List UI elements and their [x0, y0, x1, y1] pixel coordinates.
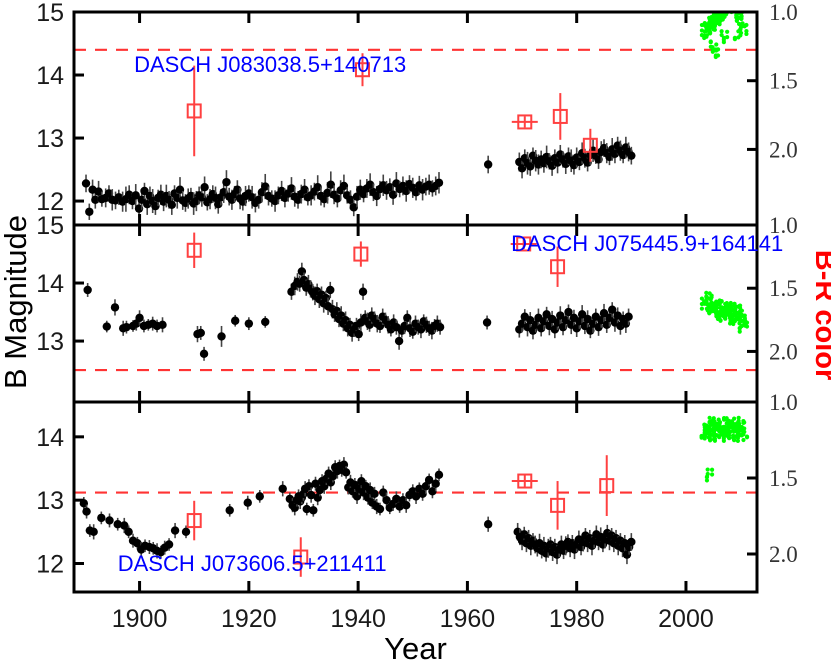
data-point-modern	[744, 23, 748, 27]
data-point-modern	[730, 5, 734, 9]
data-point-modern	[722, 429, 726, 433]
data-point-modern	[725, 30, 729, 34]
series-filled-circle	[80, 457, 636, 564]
data-point-modern	[727, 0, 731, 1]
data-point-modern	[717, 423, 721, 427]
data-point	[200, 183, 208, 191]
data-point	[222, 178, 230, 186]
data-point-modern	[730, 1, 734, 5]
data-point-modern	[730, 2, 734, 6]
y-tick-label-right: 1.5	[769, 466, 798, 491]
y-tick-label-right: 2.0	[769, 339, 798, 364]
data-point-modern	[727, 436, 731, 440]
data-point	[326, 286, 334, 294]
data-point-modern	[732, 4, 736, 8]
panel-1: 121314151.01.52.0DASCH J083038.5+140713	[36, 0, 798, 225]
data-point-modern	[712, 419, 716, 423]
series-filled-circle	[82, 137, 636, 220]
data-point-modern	[729, 315, 733, 319]
data-point-modern	[726, 3, 730, 7]
panel-data-area	[74, 0, 757, 220]
data-point	[89, 528, 97, 536]
y-tick-label: 14	[36, 270, 64, 298]
data-point-modern	[709, 40, 713, 44]
data-point	[171, 526, 179, 534]
data-point	[244, 499, 252, 507]
data-point-modern	[729, 6, 733, 10]
data-point-modern	[720, 5, 724, 9]
data-point-modern	[705, 478, 709, 482]
data-point	[226, 506, 234, 514]
data-point	[376, 505, 384, 513]
data-point	[217, 332, 225, 340]
data-point-modern	[727, 430, 731, 434]
data-point-modern	[720, 29, 724, 33]
data-point	[231, 317, 239, 325]
data-point	[359, 288, 367, 296]
data-point-modern	[726, 426, 730, 430]
data-point-modern	[735, 5, 739, 9]
series-small-dot	[699, 416, 749, 483]
y-tick-label-right: 2.0	[769, 137, 798, 162]
y-tick-label: 13	[36, 328, 64, 356]
data-point	[83, 286, 91, 294]
x-axis-title: Year	[384, 631, 447, 664]
data-point-modern	[735, 0, 739, 3]
data-point	[105, 516, 113, 524]
data-point	[484, 160, 492, 168]
x-tick-label: 1980	[549, 605, 605, 633]
data-point-modern	[734, 6, 738, 10]
data-point-modern	[704, 291, 708, 295]
data-point-modern	[727, 1, 731, 5]
data-point-modern	[706, 467, 710, 471]
data-point	[111, 303, 119, 311]
data-point	[256, 492, 264, 500]
data-point-modern	[717, 418, 721, 422]
y-tick-label: 12	[36, 551, 64, 579]
data-point-modern	[710, 468, 714, 472]
data-point-modern	[716, 53, 720, 57]
data-point-modern	[727, 0, 731, 2]
data-point-modern	[738, 27, 742, 31]
data-point	[103, 322, 111, 330]
data-point	[395, 337, 403, 345]
series-open-square	[188, 233, 564, 287]
y-tick-label: 14	[36, 62, 64, 90]
data-point	[484, 520, 492, 528]
panel-3: 1213141.01.52.0DASCH J073606.5+211411	[36, 390, 798, 592]
series-small-dot	[700, 291, 749, 334]
data-point-modern	[738, 313, 742, 317]
data-point-modern	[741, 432, 745, 436]
y-tick-label: 15	[36, 212, 64, 240]
data-point	[165, 540, 173, 548]
y-tick-label: 13	[36, 487, 64, 515]
data-point-modern	[745, 324, 749, 328]
data-point-modern	[720, 7, 724, 11]
y-tick-label: 13	[36, 125, 64, 153]
data-point	[627, 538, 635, 546]
data-point-modern	[743, 314, 747, 318]
data-point-modern	[722, 5, 726, 9]
data-point	[158, 321, 166, 329]
data-point	[342, 468, 350, 476]
y-tick-label: 15	[36, 0, 64, 27]
data-point-modern	[722, 436, 726, 440]
data-point-modern	[720, 17, 724, 21]
data-point-modern	[729, 2, 733, 6]
data-point-modern	[705, 475, 709, 479]
data-point-modern	[735, 0, 739, 3]
data-point-modern	[735, 6, 739, 10]
y-tick-label-right: 1.5	[769, 69, 798, 94]
data-point-modern	[730, 0, 734, 3]
data-point-modern	[715, 20, 719, 24]
data-point-modern	[725, 416, 729, 420]
data-point	[627, 151, 635, 159]
data-point-modern	[725, 0, 729, 3]
data-point-modern	[707, 311, 711, 315]
data-point-modern	[739, 324, 743, 328]
data-point-modern	[715, 306, 719, 310]
data-point-modern	[730, 0, 734, 4]
data-point-modern	[732, 0, 736, 4]
data-point	[402, 501, 410, 509]
data-point	[168, 201, 176, 209]
data-point-modern	[700, 307, 704, 311]
data-point-modern	[703, 436, 707, 440]
source-label: DASCH J073606.5+211411	[118, 551, 387, 576]
data-point-modern	[725, 5, 729, 9]
data-point-modern	[720, 299, 724, 303]
data-point-modern	[720, 2, 724, 6]
source-label: DASCH J075445.9+164141	[511, 231, 783, 256]
data-point-modern	[705, 301, 709, 305]
data-point	[309, 506, 317, 514]
data-point-modern	[725, 3, 729, 7]
data-point-modern	[725, 2, 729, 6]
data-point-modern	[732, 417, 736, 421]
data-point-modern	[722, 425, 726, 429]
data-point-modern	[705, 295, 709, 299]
data-point-modern	[730, 1, 734, 5]
data-point-modern	[722, 0, 726, 4]
data-point-modern	[740, 425, 744, 429]
data-point-modern	[734, 305, 738, 309]
data-point	[124, 528, 132, 536]
data-point-modern	[720, 33, 724, 37]
data-point	[436, 323, 444, 331]
data-point-modern	[708, 416, 712, 420]
data-point	[135, 314, 143, 322]
data-point	[279, 485, 287, 493]
y-tick-label-right: 2.0	[769, 542, 798, 567]
data-point-modern	[735, 4, 739, 8]
data-point-modern	[732, 4, 736, 8]
data-point-modern	[730, 6, 734, 10]
data-point-modern	[737, 16, 741, 20]
data-point-modern	[714, 42, 718, 46]
data-point-modern	[735, 1, 739, 5]
data-point	[261, 318, 269, 326]
data-point-modern	[725, 35, 729, 39]
data-point-modern	[741, 438, 745, 442]
data-point-modern	[723, 302, 727, 306]
data-point-modern	[735, 7, 739, 11]
y-axis-title-left: B Magnitude	[0, 215, 33, 389]
data-point-modern	[717, 5, 721, 9]
source-label: DASCH J083038.5+140713	[134, 52, 406, 77]
data-point-modern	[725, 6, 729, 10]
series-filled-circle	[83, 263, 632, 361]
data-point-modern	[735, 0, 739, 2]
x-tick-label: 2000	[658, 605, 714, 633]
lightcurve-plot: 121314151.01.52.0DASCH J083038.5+1407131…	[0, 0, 831, 664]
data-point-modern	[744, 29, 748, 33]
data-point-modern	[736, 35, 740, 39]
x-tick-label: 1900	[112, 605, 168, 633]
data-point	[82, 507, 90, 515]
data-point	[435, 471, 443, 479]
data-point-modern	[730, 1, 734, 5]
data-point-modern	[718, 306, 722, 310]
data-point	[182, 528, 190, 536]
data-point-modern	[709, 297, 713, 301]
y-tick-label-right: 1.0	[769, 390, 798, 415]
data-point-modern	[713, 439, 717, 443]
data-point-modern	[722, 0, 726, 4]
data-point	[370, 490, 378, 498]
x-tick-label: 1920	[221, 605, 277, 633]
data-point	[435, 179, 443, 187]
data-point-modern	[710, 472, 714, 476]
data-point	[197, 329, 205, 337]
data-point	[245, 319, 253, 327]
data-point-modern	[743, 318, 747, 322]
y-axis-title-right: B-R color	[809, 250, 831, 381]
data-point	[82, 179, 90, 187]
data-point-modern	[736, 439, 740, 443]
data-point-modern	[725, 421, 729, 425]
y-tick-label: 14	[36, 424, 64, 452]
panel-2: 1314151.01.52.0DASCH J075445.9+164141	[36, 212, 798, 402]
y-tick-label-right: 1.5	[769, 276, 798, 301]
y-tick-label-right: 1.0	[769, 0, 798, 25]
data-point-modern	[741, 23, 745, 27]
data-point-modern	[702, 36, 706, 40]
data-point-modern	[714, 47, 718, 51]
x-tick-label: 1940	[330, 605, 386, 633]
data-point-modern	[741, 419, 745, 423]
data-point-modern	[734, 1, 738, 5]
data-point	[85, 208, 93, 216]
data-point-modern	[727, 2, 731, 6]
x-tick-label: 1960	[440, 605, 496, 633]
data-point	[624, 312, 632, 320]
data-point	[483, 318, 491, 326]
data-point-modern	[738, 6, 742, 10]
data-point	[97, 514, 105, 522]
data-point-modern	[730, 0, 734, 2]
dasch-lightcurve-figure: 121314151.01.52.0DASCH J083038.5+1407131…	[0, 0, 831, 664]
data-point-modern	[722, 38, 726, 42]
data-point-modern	[745, 435, 749, 439]
data-point-modern	[730, 3, 734, 7]
data-point-modern	[715, 433, 719, 437]
data-point	[200, 350, 208, 358]
data-point-modern	[715, 301, 719, 305]
